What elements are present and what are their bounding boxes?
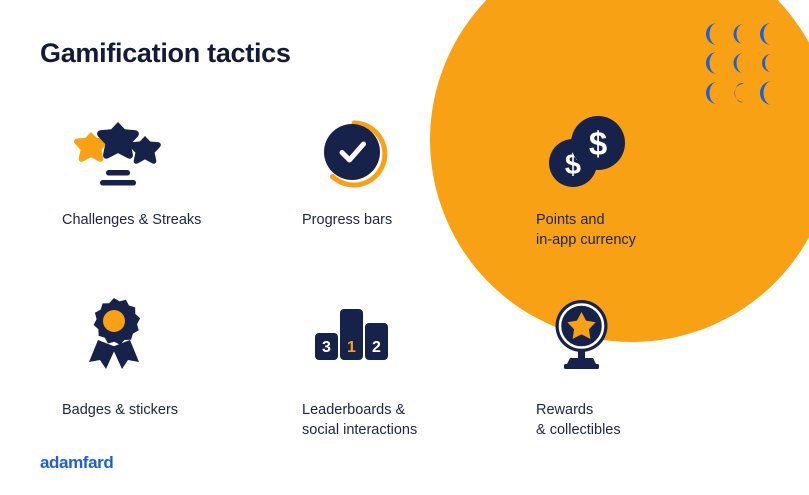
crescent-icon	[727, 79, 754, 108]
two-coins-icon: $ $	[536, 112, 636, 196]
tactic-item-challenges-streaks[interactable]: Challenges & Streaks	[62, 112, 201, 230]
crescent-icon	[700, 49, 727, 78]
tactic-item-rewards-collectibles[interactable]: Rewards & collectibles	[536, 294, 621, 440]
podium-place-2: 2	[372, 339, 381, 356]
svg-text:$: $	[589, 125, 607, 162]
crescent-icon	[727, 49, 754, 78]
tactic-label: Progress bars	[302, 210, 392, 230]
tactic-label: Leaderboards & social interactions	[302, 400, 417, 440]
crescent-grid-decoration	[700, 20, 780, 108]
crescent-icon	[753, 79, 780, 108]
tactic-label: Points and in-app currency	[536, 210, 636, 250]
podium-leaderboard-icon: 3 1 2	[302, 294, 417, 378]
podium-place-1: 1	[347, 339, 356, 356]
progress-circle-check-icon	[302, 112, 392, 196]
tactic-label: Rewards & collectibles	[536, 400, 621, 440]
tactic-label: Badges & stickers	[62, 400, 178, 420]
slide-canvas: Gamification tactics Challenges & Streak…	[0, 0, 809, 495]
trophy-star-icon	[536, 294, 621, 378]
tactic-item-badges-stickers[interactable]: Badges & stickers	[62, 294, 178, 420]
crescent-icon	[753, 20, 780, 49]
crescent-icon	[700, 20, 727, 49]
crescent-icon	[700, 79, 727, 108]
badge-rosette-icon	[62, 294, 178, 378]
page-title: Gamification tactics	[40, 38, 291, 69]
tactic-item-leaderboards-social[interactable]: 3 1 2 Leaderboards & social interactions	[302, 294, 417, 440]
tactic-label: Challenges & Streaks	[62, 210, 201, 230]
three-stars-icon	[62, 112, 201, 196]
crescent-icon	[727, 20, 754, 49]
podium-place-3: 3	[322, 339, 331, 356]
crescent-icon	[753, 49, 780, 78]
adamfard-logo[interactable]: adamfard	[40, 453, 113, 473]
tactic-item-progress-bars[interactable]: Progress bars	[302, 112, 392, 230]
tactic-item-points-currency[interactable]: $ $ Points and in-app currency	[536, 112, 636, 250]
